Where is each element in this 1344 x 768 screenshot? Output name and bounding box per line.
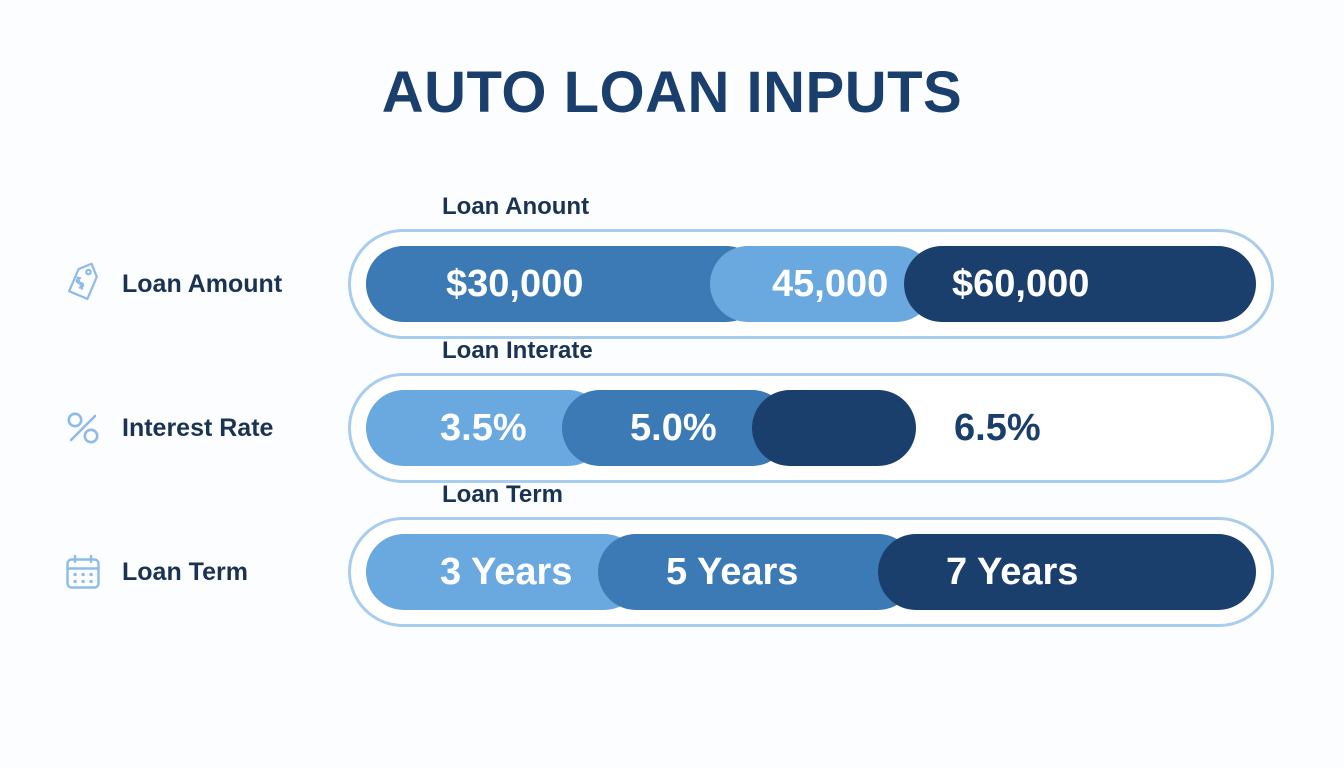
legend-loan-term: Loan Term [60,517,340,627]
calendar-icon [60,549,106,595]
slider-segment[interactable]: 45,000 [710,246,934,322]
slider-caption: Loan Interate [442,337,593,365]
slider-segment[interactable]: $30,000 [366,246,764,322]
input-row-interest-rate: Interest Rate Loan Interate 3.5% 5.0% 6.… [0,373,1344,483]
slider-interest-rate[interactable]: Loan Interate 3.5% 5.0% 6.5% [348,373,1274,483]
slider-segment-end-cap[interactable] [752,390,916,466]
segment-value: 45,000 [772,265,888,303]
slider-segment[interactable]: 6.5% [916,390,1256,466]
slider-segment[interactable]: 5 Years [598,534,916,610]
segment-value: 3 Years [440,553,572,591]
slider-loan-term[interactable]: Loan Term 3 Years 5 Years 7 Years [348,517,1274,627]
segment-value: $30,000 [446,265,583,303]
percent-icon [60,405,106,451]
legend-interest-rate: Interest Rate [60,373,340,483]
legend-label: Loan Term [122,558,248,587]
slider-caption: Loan Anount [442,193,589,221]
legend-label: Loan Amount [122,270,282,299]
slider-loan-amount[interactable]: Loan Anount $30,000 45,000 $60,000 [348,229,1274,339]
input-row-loan-amount: Loan Amount Loan Anount $30,000 45,000 $… [0,229,1344,339]
segment-value: 5.0% [630,409,717,447]
segment-value: 5 Years [666,553,798,591]
legend-label: Interest Rate [122,414,273,443]
segment-value: 6.5% [954,409,1041,447]
segment-value: 3.5% [440,409,527,447]
slider-fill-area: 3.5% 5.0% 6.5% [366,390,1256,466]
segment-value: 7 Years [946,553,1078,591]
infographic-canvas: AUTO LOAN INPUTS Loan Amount Loan Anount… [0,0,1344,768]
input-row-loan-term: Loan Term Loan Term 3 Years 5 Years 7 Ye… [0,517,1344,627]
page-title: AUTO LOAN INPUTS [0,64,1344,122]
price-tag-icon [60,261,106,307]
slider-fill-area: $30,000 45,000 $60,000 [366,246,1256,322]
segment-value: $60,000 [952,265,1089,303]
slider-caption: Loan Term [442,481,563,509]
slider-fill-area: 3 Years 5 Years 7 Years [366,534,1256,610]
slider-segment[interactable]: 7 Years [878,534,1256,610]
legend-loan-amount: Loan Amount [60,229,340,339]
slider-segment[interactable]: $60,000 [904,246,1256,322]
